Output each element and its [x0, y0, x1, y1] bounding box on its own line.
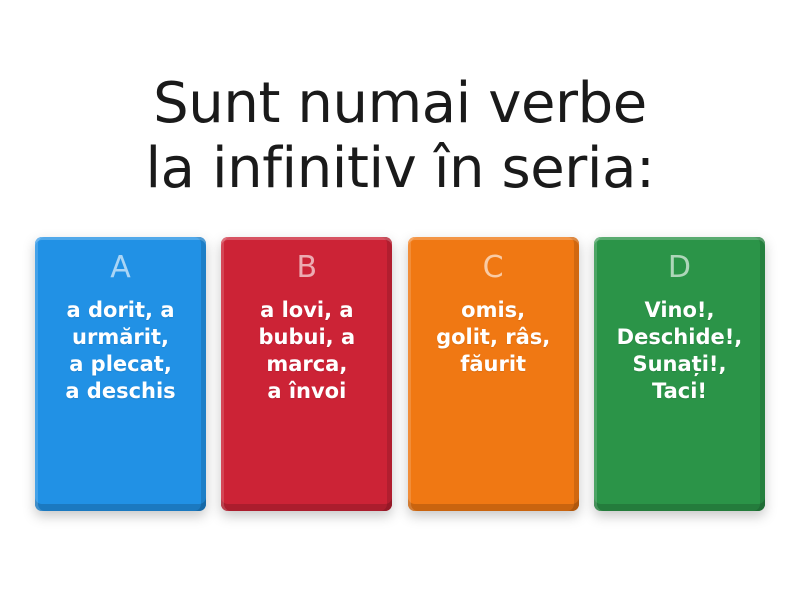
answer-options-row: A a dorit, a urmărit, a plecat, a deschi…: [35, 237, 765, 515]
answer-option-b[interactable]: B a lovi, a bubui, a marca, a învoi: [221, 237, 392, 511]
answer-option-d[interactable]: D Vino!, Deschide!, Sunați!, Taci!: [594, 237, 765, 511]
answer-letter-d: D: [668, 253, 691, 283]
answer-letter-c: C: [483, 253, 504, 283]
question-title: Sunt numai verbe la infinitiv în seria:: [0, 72, 800, 202]
answer-option-a[interactable]: A a dorit, a urmărit, a plecat, a deschi…: [35, 237, 206, 511]
answer-letter-b: B: [297, 253, 318, 283]
answer-text-b: a lovi, a bubui, a marca, a învoi: [229, 297, 384, 405]
answer-text-c: omis, golit, râs, făurit: [416, 297, 571, 378]
answer-option-c[interactable]: C omis, golit, râs, făurit: [408, 237, 579, 511]
quiz-stage: Sunt numai verbe la infinitiv în seria: …: [0, 0, 800, 600]
answer-letter-a: A: [110, 253, 131, 283]
answer-text-a: a dorit, a urmărit, a plecat, a deschis: [43, 297, 198, 405]
answer-text-d: Vino!, Deschide!, Sunați!, Taci!: [602, 297, 757, 405]
